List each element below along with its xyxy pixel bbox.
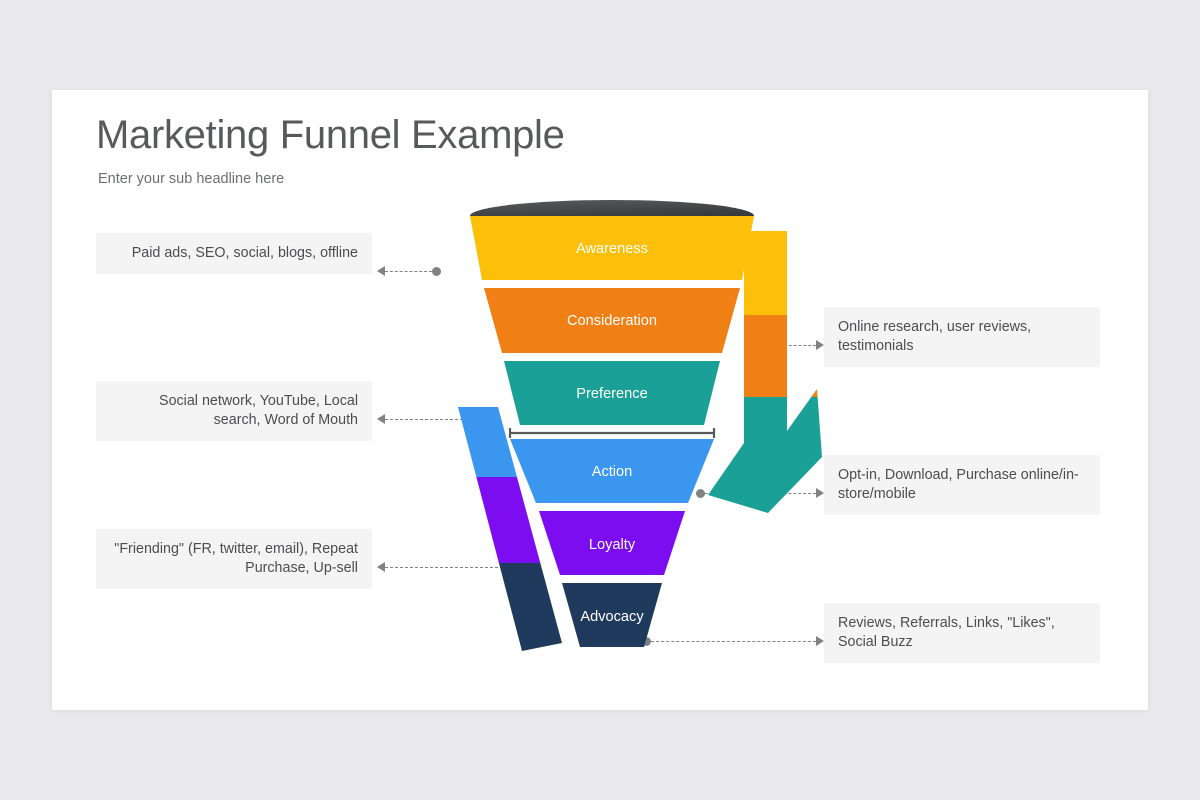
funnel-stage-advocacy[interactable] (562, 583, 662, 647)
funnel-stage-consideration[interactable] (484, 288, 740, 353)
funnel-divider-bracket (510, 428, 714, 438)
callout-loyalty[interactable]: "Friending" (FR, twitter, email), Repeat… (96, 529, 372, 589)
callout-awareness-text: Paid ads, SEO, social, blogs, offline (132, 245, 358, 261)
callout-action-text: Opt-in, Download, Purchase online/in-sto… (838, 467, 1079, 502)
callout-awareness[interactable]: Paid ads, SEO, social, blogs, offline (96, 233, 372, 274)
page-title: Marketing Funnel Example (96, 113, 565, 158)
funnel-svg (392, 195, 832, 685)
funnel-stage-loyalty[interactable] (539, 511, 685, 575)
funnel-stage-preference[interactable] (504, 361, 720, 425)
funnel-stage-awareness[interactable] (470, 216, 754, 280)
slide-card: Marketing Funnel Example Enter your sub … (52, 90, 1148, 710)
callout-consideration[interactable]: Online research, user reviews, testimoni… (824, 307, 1100, 367)
callout-action[interactable]: Opt-in, Download, Purchase online/in-sto… (824, 455, 1100, 515)
funnel-diagram: Awareness Consideration Preference Actio… (392, 195, 832, 685)
callout-preference[interactable]: Social network, YouTube, Local search, W… (96, 381, 372, 441)
callout-advocacy-text: Reviews, Referrals, Links, "Likes", Soci… (838, 615, 1055, 650)
callout-loyalty-text: "Friending" (FR, twitter, email), Repeat… (114, 541, 358, 576)
funnel-stage-action[interactable] (510, 439, 714, 503)
arrowhead-left-icon (377, 414, 385, 424)
arrowhead-left-icon (377, 562, 385, 572)
page-subtitle: Enter your sub headline here (98, 171, 284, 187)
callout-consideration-text: Online research, user reviews, testimoni… (838, 319, 1031, 354)
callout-advocacy[interactable]: Reviews, Referrals, Links, "Likes", Soci… (824, 603, 1100, 663)
arrowhead-left-icon (377, 266, 385, 276)
callout-preference-text: Social network, YouTube, Local search, W… (159, 393, 358, 428)
